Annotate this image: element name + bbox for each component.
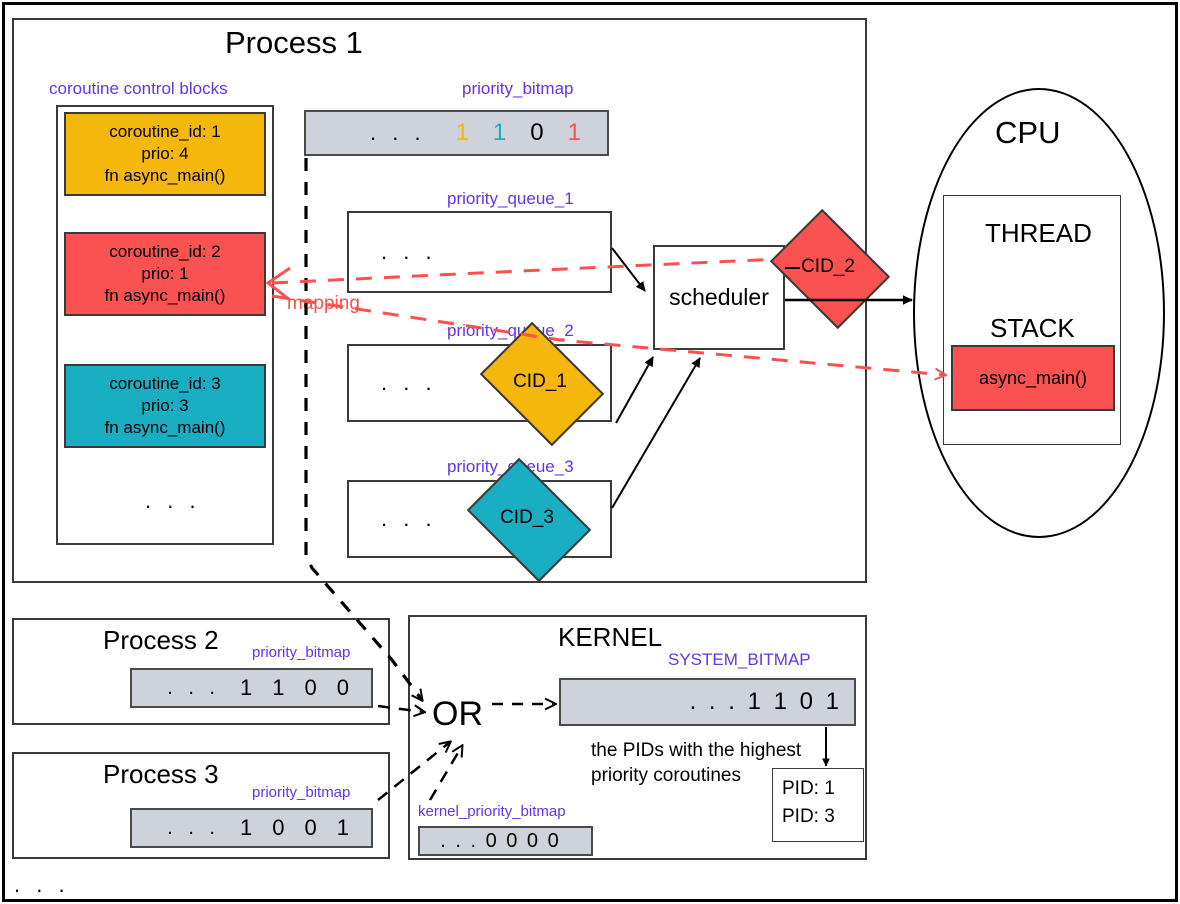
process-3-bit-1: 0 (272, 815, 284, 841)
system-bitmap-value: . . . 1 1 0 1 (690, 688, 842, 716)
priority-bitmap-bit-2: 0 (530, 119, 543, 147)
ccb-3-fn: fn async_main() (105, 417, 226, 439)
process-3-bitmap-ellipsis: . . . (167, 817, 220, 840)
process-1-title: Process 1 (225, 25, 363, 61)
process-3-title: Process 3 (103, 759, 219, 790)
process-2-title: Process 2 (103, 625, 219, 656)
ccb-3-id: coroutine_id: 3 (109, 373, 221, 395)
process-3-bitmap-label: priority_bitmap (252, 784, 350, 801)
pid-entry-1: PID: 1 (782, 778, 835, 800)
running-coroutine-cid-2[interactable]: CID_2 (782, 232, 874, 302)
pids-note-line-2: priority coroutines (591, 765, 741, 787)
coroutine-control-block-1[interactable]: coroutine_id: 1 prio: 4 fn async_main() (64, 112, 266, 196)
ccb-1-id: coroutine_id: 1 (109, 121, 221, 143)
priority-bitmap[interactable]: . . . 1 1 0 1 (304, 110, 609, 156)
priority-bitmap-label: priority_bitmap (462, 79, 574, 99)
kernel-title: KERNEL (558, 622, 662, 653)
priority-queue-1-label: priority_queue_1 (447, 189, 574, 209)
coroutine-control-blocks-label: coroutine control blocks (49, 79, 228, 99)
coroutine-control-block-2[interactable]: coroutine_id: 2 prio: 1 fn async_main() (64, 232, 266, 316)
scheduler-box[interactable]: scheduler (653, 245, 785, 350)
ccb-3-prio: prio: 3 (141, 395, 188, 417)
process-3-bit-2: 0 (305, 815, 317, 841)
ccb-list-ellipsis: . . . (145, 488, 201, 514)
kernel-priority-bitmap[interactable]: . . . 0 0 0 0 (418, 826, 593, 856)
process-2-bitmap-label: priority_bitmap (252, 644, 350, 661)
scheduler-label: scheduler (669, 284, 769, 311)
process-2-bit-0: 1 (240, 675, 252, 701)
cpu-title: CPU (995, 115, 1060, 151)
priority-bitmap-ellipsis: . . . (370, 120, 426, 146)
queue-item-cid-3[interactable]: CID_3 (478, 483, 576, 553)
stack-frame-async-main[interactable]: async_main() (951, 345, 1115, 411)
system-bitmap[interactable]: . . . 1 1 0 1 (559, 678, 856, 726)
priority-bitmap-bit-1: 1 (493, 119, 506, 147)
coroutine-control-block-3[interactable]: coroutine_id: 3 prio: 3 fn async_main() (64, 364, 266, 448)
pid-entry-2: PID: 3 (782, 806, 835, 828)
diagram-root: Process 1 coroutine control blocks corou… (0, 0, 1180, 904)
ccb-2-fn: fn async_main() (105, 285, 226, 307)
process-2-bitmap-ellipsis: . . . (167, 677, 220, 700)
process-2-bitmap[interactable]: . . . 1 1 0 0 (130, 668, 373, 708)
queue-item-cid-1-label: CID_1 (513, 371, 567, 393)
process-2-bit-3: 0 (337, 675, 349, 701)
bottom-ellipsis: . . . (14, 872, 70, 898)
process-3-bitmap[interactable]: . . . 1 0 0 1 (130, 808, 373, 848)
ccb-1-prio: prio: 4 (141, 143, 188, 165)
system-bitmap-label: SYSTEM_BITMAP (668, 650, 811, 670)
priority-queue-2-ellipsis: . . . (381, 370, 437, 396)
process-2-bit-2: 0 (305, 675, 317, 701)
kernel-priority-bitmap-value: . . . 0 0 0 0 (440, 830, 561, 853)
process-3-bit-3: 1 (337, 815, 349, 841)
queue-item-cid-3-label: CID_3 (500, 507, 554, 529)
running-coroutine-cid-2-label: CID_2 (801, 256, 855, 278)
priority-bitmap-bit-3: 1 (568, 119, 581, 147)
process-2-bit-1: 1 (272, 675, 284, 701)
priority-queue-2-label: priority_queue_2 (447, 321, 574, 341)
priority-queue-3-ellipsis: . . . (381, 506, 437, 532)
mapping-label: mapping (287, 293, 360, 315)
ccb-2-id: coroutine_id: 2 (109, 241, 221, 263)
priority-queue-1-ellipsis: . . . (381, 239, 437, 265)
priority-queue-1[interactable]: . . . (347, 211, 612, 293)
queue-item-cid-1[interactable]: CID_1 (491, 347, 589, 417)
stack-label: STACK (990, 313, 1075, 344)
process-3-bit-0: 1 (240, 815, 252, 841)
kernel-priority-bitmap-label: kernel_priority_bitmap (418, 803, 566, 820)
pids-note-line-1: the PIDs with the highest (591, 740, 801, 762)
priority-bitmap-bit-0: 1 (456, 119, 469, 147)
or-gate-label: OR (432, 695, 483, 734)
ccb-2-prio: prio: 1 (141, 263, 188, 285)
ccb-1-fn: fn async_main() (105, 165, 226, 187)
thread-label: THREAD (985, 218, 1092, 249)
stack-frame-label: async_main() (979, 368, 1087, 389)
